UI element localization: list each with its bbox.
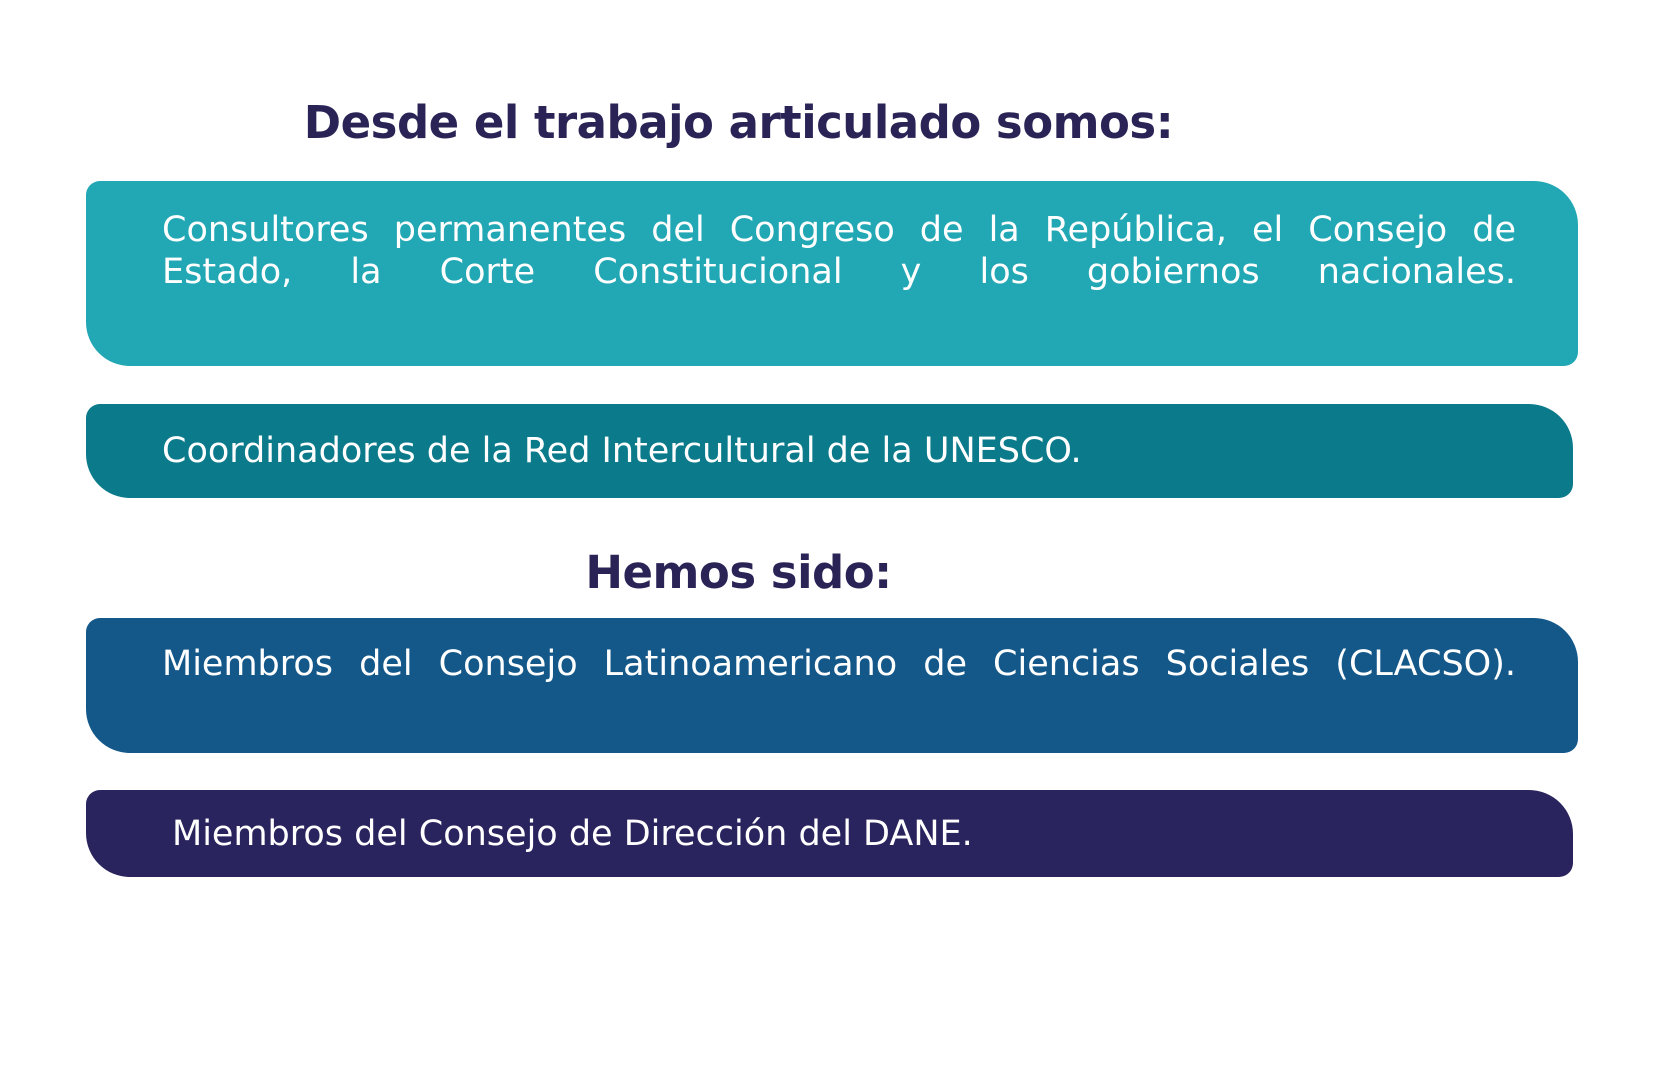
list-item-clacso: Miembros del Consejo Latinoamericano de … — [86, 618, 1578, 753]
list-item-consultores: Consultores permanentes del Congreso de … — [86, 181, 1578, 366]
bar-label: Miembros del Consejo Latinoamericano de … — [162, 643, 1516, 729]
bar-label: Consultores permanentes del Congreso de … — [162, 209, 1516, 339]
bar-label: Miembros del Consejo de Dirección del DA… — [172, 813, 1511, 855]
page-title: Desde el trabajo articulado somos: — [0, 95, 1567, 151]
slide-canvas: Desde el trabajo articulado somos: Consu… — [0, 0, 1657, 1081]
list-item-dane: Miembros del Consejo de Dirección del DA… — [86, 790, 1573, 877]
list-item-coordinadores: Coordinadores de la Red Intercultural de… — [86, 404, 1573, 498]
bar-label: Coordinadores de la Red Intercultural de… — [162, 430, 1511, 472]
section-title-hemos-sido: Hemos sido: — [0, 545, 1567, 601]
